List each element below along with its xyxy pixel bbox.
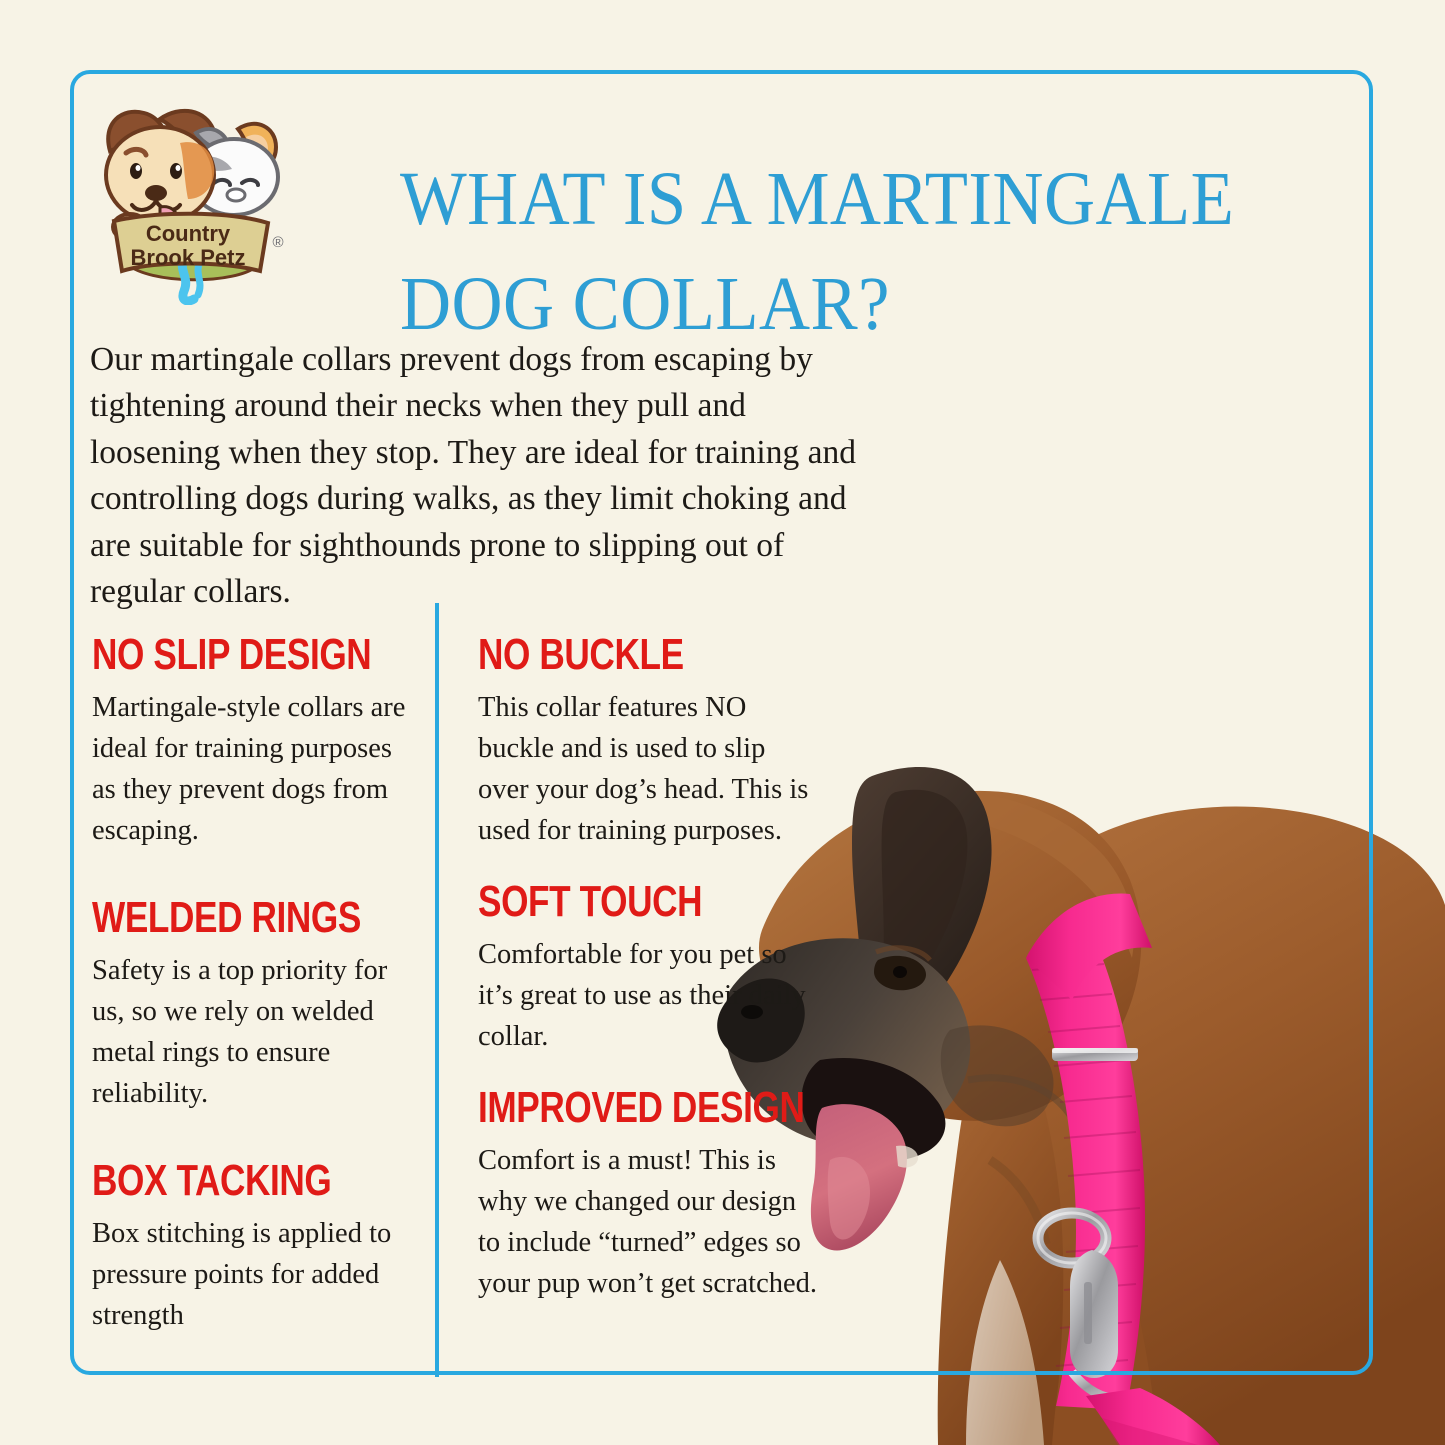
infographic-canvas: Country Brook Petz ® WHAT IS A MARTINGAL… [0, 0, 1445, 1445]
feature-body: Comfort is a must! This is why we change… [478, 1140, 823, 1304]
feature-no-buckle: NO BUCKLE This collar features NO buckle… [478, 630, 823, 851]
feature-body: This collar features NO buckle and is us… [478, 687, 823, 851]
logo-trademark-symbol: ® [272, 234, 283, 251]
logo-banner-line2: Brook Petz [131, 245, 246, 270]
feature-body: Martingale-style collars are ideal for t… [92, 687, 412, 851]
feature-heading: BOX TACKING [92, 1156, 348, 1206]
feature-soft-touch: SOFT TOUCH Comfortable for you pet so it… [478, 877, 823, 1057]
feature-body: Safety is a top priority for us, so we r… [92, 950, 412, 1114]
features-column-left: NO SLIP DESIGN Martingale-style collars … [92, 630, 412, 1378]
feature-heading: WELDED RINGS [92, 893, 348, 943]
feature-body: Box stitching is applied to pressure poi… [92, 1213, 412, 1336]
feature-heading: IMPROVED DESIGN [478, 1083, 823, 1133]
logo-banner-line1: Country [146, 221, 231, 246]
feature-body: Comfortable for you pet so it’s great to… [478, 934, 823, 1057]
features-column-right: NO BUCKLE This collar features NO buckle… [478, 630, 823, 1330]
column-divider [435, 603, 439, 1377]
feature-no-slip-design: NO SLIP DESIGN Martingale-style collars … [92, 630, 412, 851]
feature-box-tacking: BOX TACKING Box stitching is applied to … [92, 1156, 412, 1336]
intro-paragraph: Our martingale collars prevent dogs from… [90, 337, 865, 616]
feature-heading: NO BUCKLE [478, 630, 754, 680]
country-brook-petz-logo: Country Brook Petz ® [88, 95, 293, 305]
page-title: WHAT IS A MARTINGALE DOG COLLAR? [400, 147, 1237, 357]
feature-heading: NO SLIP DESIGN [92, 630, 348, 680]
feature-welded-rings: WELDED RINGS Safety is a top priority fo… [92, 893, 412, 1114]
feature-heading: SOFT TOUCH [478, 877, 754, 927]
feature-improved-design: IMPROVED DESIGN Comfort is a must! This … [478, 1083, 823, 1304]
